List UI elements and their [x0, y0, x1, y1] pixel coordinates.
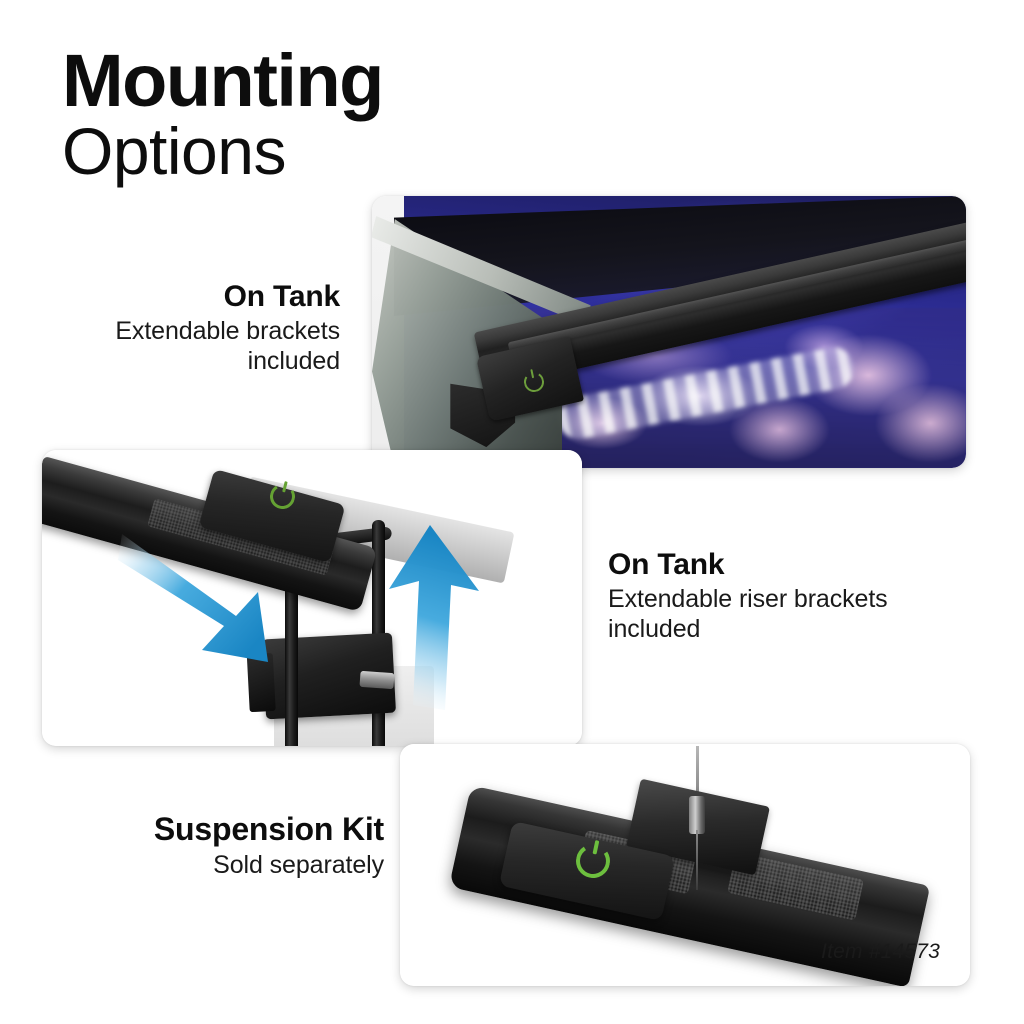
page-title: Mounting Options [62, 46, 542, 184]
infographic-canvas: Mounting Options On Tank Extendable brac… [0, 0, 1024, 1024]
arrow-up-icon [375, 525, 485, 710]
caption-body: Extendable riser brackets included [608, 584, 948, 645]
caption-on-tank-brackets: On Tank Extendable brackets included [40, 280, 340, 377]
caption-body: Sold separately [70, 850, 384, 881]
title-sub-word: Options [62, 118, 542, 184]
photo-panel-on-tank [372, 196, 966, 468]
suspension-cable-lower [696, 830, 698, 890]
caption-heading: On Tank [608, 548, 948, 582]
title-main-word: Mounting [62, 46, 542, 116]
aquarium-photo [372, 196, 966, 468]
caption-heading: On Tank [40, 280, 340, 314]
photo-panel-suspension: Item #14573 [400, 744, 970, 986]
caption-on-tank-riser: On Tank Extendable riser brackets includ… [608, 548, 948, 645]
photo-panel-on-tank-inner [372, 196, 966, 468]
caption-heading: Suspension Kit [70, 812, 384, 848]
suspension-photo: Item #14573 [400, 744, 970, 986]
arrow-down-right-icon [118, 530, 334, 678]
caption-body: Extendable brackets included [40, 316, 340, 377]
caption-suspension-kit: Suspension Kit Sold separately [70, 812, 384, 880]
item-number-label: Item #14573 [821, 940, 940, 964]
photo-panel-suspension-inner: Item #14573 [400, 744, 970, 986]
cable-ferrule [689, 796, 705, 834]
